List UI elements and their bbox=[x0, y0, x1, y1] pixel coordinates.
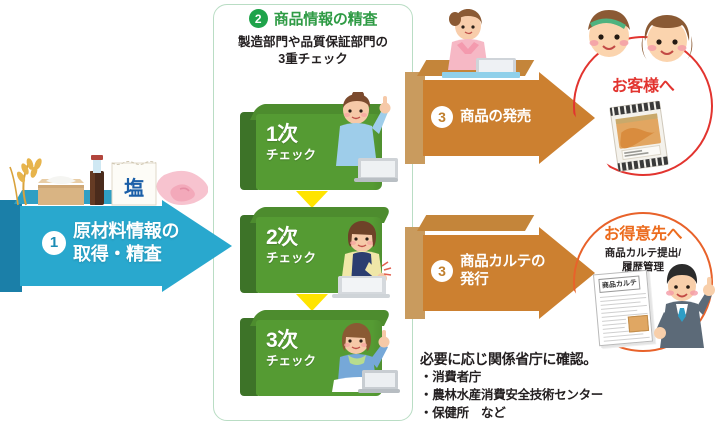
step1-label-line1: 原材料情報の bbox=[73, 220, 179, 243]
step2-title: 商品情報の精査 bbox=[274, 8, 378, 29]
check-3-order: 3次 bbox=[266, 329, 298, 352]
step3-karte-label-line1: 商品カルテの bbox=[460, 253, 545, 271]
step2-number-badge: 2 bbox=[249, 9, 268, 28]
woman-in-pink-with-laptop-icon bbox=[428, 4, 524, 78]
step2-subtitle-line1: 製造部門や品質保証部門の bbox=[213, 34, 413, 51]
step1-number-badge: 1 bbox=[42, 231, 66, 255]
step3-launch-number-badge: 3 bbox=[431, 106, 453, 128]
svg-text:塩: 塩 bbox=[124, 176, 144, 200]
note-heading: 必要に応じ関係省庁に確認。 bbox=[420, 349, 670, 369]
woman-pointing-up-with-laptop-icon bbox=[318, 92, 398, 190]
process-diagram: 2 商品情報の精査 製造部門や品質保証部門の 3重チェック 1次 チェック bbox=[0, 0, 720, 425]
customer-callout-title: お客様へ bbox=[573, 72, 713, 96]
product-package-icon bbox=[602, 100, 678, 172]
arrow-side-face bbox=[405, 227, 425, 319]
client-callout-subtitle-line1: 商品カルテ提出/ bbox=[573, 246, 713, 260]
step2-header: 2 商品情報の精査 製造部門や品質保証部門の 3重チェック bbox=[213, 8, 413, 68]
connector-arrow-2 bbox=[296, 294, 328, 311]
check-3-label: チェック bbox=[266, 355, 316, 368]
check-2-label: チェック bbox=[266, 252, 316, 265]
step3-launch-label: 商品の発売 bbox=[460, 108, 531, 126]
karte-document-label: 商品カルテ bbox=[598, 275, 640, 293]
note-item-1: ・農林水産消費安全技術センター bbox=[420, 387, 670, 405]
arrow-side-face bbox=[405, 72, 425, 164]
woman-typing-on-laptop-icon bbox=[320, 218, 402, 302]
karte-document-icon: 商品カルテ bbox=[593, 270, 653, 346]
note-item-2: ・保健所 など bbox=[420, 405, 670, 423]
customer-face-child-icon bbox=[578, 8, 640, 60]
client-callout-title: お得意先へ bbox=[573, 220, 713, 244]
step3-karte-arrow: 3 商品カルテの 発行 bbox=[405, 215, 595, 327]
woman-sitting-with-laptop-icon bbox=[318, 320, 402, 402]
step1-label-line2: 取得・精査 bbox=[73, 243, 179, 266]
businessman-pointing-up-icon bbox=[652, 262, 720, 350]
arrow-side-face bbox=[0, 200, 22, 292]
customer-face-woman-icon bbox=[634, 12, 700, 68]
connector-arrow-1 bbox=[296, 191, 328, 208]
check-2-order: 2次 bbox=[266, 226, 298, 249]
step3-karte-label-line2: 発行 bbox=[460, 271, 545, 289]
step2-subtitle-line2: 3重チェック bbox=[213, 51, 413, 68]
check-1-order: 1次 bbox=[266, 123, 298, 146]
check-1-label: チェック bbox=[266, 149, 316, 162]
ministry-note: 必要に応じ関係省庁に確認。 ・消費者庁 ・農林水産消費安全技術センター ・保健所… bbox=[420, 349, 670, 422]
ingredients-group-icon: 塩 bbox=[8, 155, 208, 207]
step3-karte-number-badge: 3 bbox=[431, 260, 453, 282]
note-item-0: ・消費者庁 bbox=[420, 369, 670, 387]
